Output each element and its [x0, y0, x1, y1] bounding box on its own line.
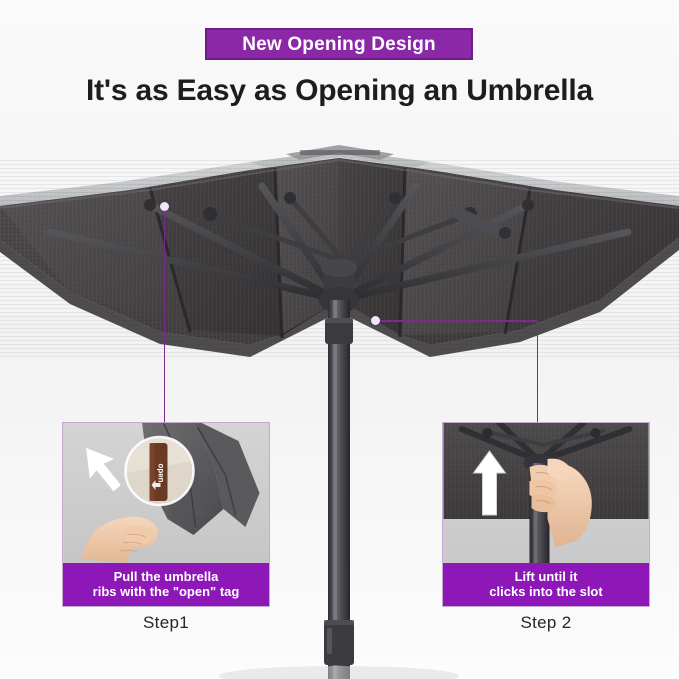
callout-line-left: [164, 210, 166, 422]
callout-dot-right: [371, 316, 380, 325]
badge-new-opening-design: New Opening Design: [205, 28, 473, 60]
step-2-label: Step 2: [442, 613, 650, 633]
step-1-caption-line2: ribs with the "open" tag: [67, 584, 265, 599]
step-1-caption: Pull the umbrella ribs with the "open" t…: [63, 563, 269, 606]
step-1-caption-line1: Pull the umbrella: [114, 569, 219, 584]
step-1-label: Step1: [62, 613, 270, 633]
callout-dot-left: [160, 202, 169, 211]
step-2-image: [443, 423, 649, 563]
step-2-caption: Lift until it clicks into the slot: [443, 563, 649, 606]
badge-label: New Opening Design: [242, 35, 436, 54]
step-2-caption-line2: clicks into the slot: [447, 584, 645, 599]
step-panel-1: open Pull the umbrella ribs with the "op…: [62, 422, 270, 607]
callout-line-right-horizontal: [380, 320, 538, 322]
infographic-canvas: New Opening Design It's as Easy as Openi…: [0, 0, 679, 679]
page-title: It's as Easy as Opening an Umbrella: [0, 74, 679, 108]
step-1-image: open: [63, 423, 269, 563]
step-panel-2: Lift until it clicks into the slot: [442, 422, 650, 607]
step-2-caption-line1: Lift until it: [515, 569, 578, 584]
open-tag-text: open: [157, 463, 166, 482]
callout-line-right-vertical: [537, 320, 539, 422]
